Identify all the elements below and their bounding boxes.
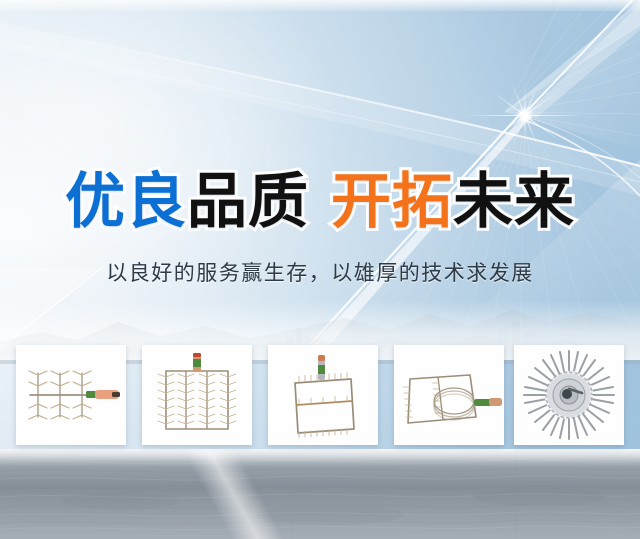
bristle-frame-illustration [142, 345, 252, 445]
ring-frame-illustration [394, 345, 504, 445]
product-card-radial-star[interactable] [514, 345, 624, 445]
product-card-pin-frame[interactable] [268, 345, 378, 445]
headline: 优良品质开拓未来 [0, 166, 640, 238]
flare-core [516, 106, 534, 124]
comb-rake-illustration [16, 345, 126, 445]
headline-seg-pinzhi: 品质 [187, 166, 309, 238]
product-card-ring-frame[interactable] [394, 345, 504, 445]
subtitle: 以良好的服务赢生存，以雄厚的技术求发展 [0, 258, 640, 288]
product-card-comb-rake[interactable] [16, 345, 126, 445]
product-card-row [0, 345, 640, 449]
floor-top-sheen [0, 449, 640, 467]
promo-banner: 优良品质开拓未来 以良好的服务赢生存，以雄厚的技术求发展 [0, 0, 640, 539]
concrete-floor [0, 449, 640, 539]
radial-star-illustration [514, 345, 624, 445]
pin-frame-illustration [268, 345, 378, 445]
product-card-bristle-frame[interactable] [142, 345, 252, 445]
headline-seg-kaituo: 开拓 [331, 166, 453, 238]
headline-seg-weilai: 未来 [453, 166, 575, 238]
headline-seg-youliang: 优良 [65, 166, 187, 238]
